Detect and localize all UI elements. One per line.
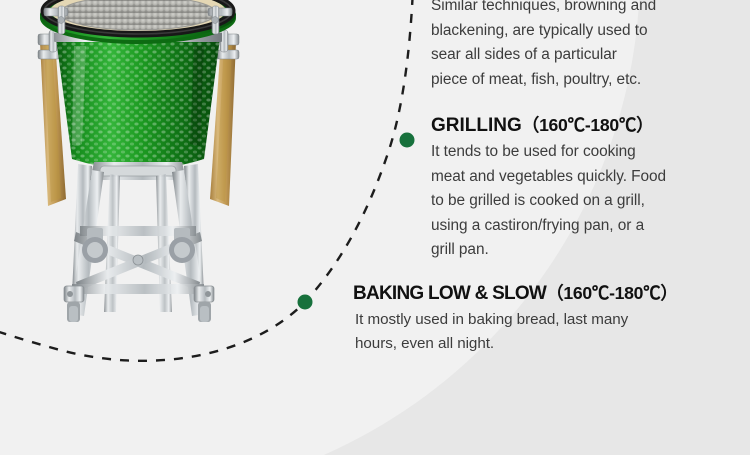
searing-body-line: blackening, are typically used to: [431, 19, 743, 44]
grilling-body-line: It tends to be used for cooking: [431, 140, 743, 165]
arc-line: [0, 0, 414, 361]
searing-body-line: Similar techniques, browning and: [431, 0, 743, 19]
grilling-body-line: meat and vegetables quickly. Food: [431, 165, 743, 190]
section-baking: BAKING LOW & SLOW（160℃-180℃） It mostly u…: [353, 281, 747, 357]
searing-body: Similar techniques, browning and blacken…: [431, 0, 743, 92]
grilling-heading: GRILLING（160℃-180℃）: [431, 113, 743, 138]
searing-body-line: sear all sides of a particular: [431, 43, 743, 68]
node-dot-baking: [298, 295, 313, 310]
baking-body-line: It mostly used in baking bread, last man…: [355, 308, 747, 332]
section-searing: Similar techniques, browning and blacken…: [431, 0, 743, 92]
baking-body: It mostly used in baking bread, last man…: [353, 308, 747, 357]
baking-temperature: （160℃-180℃）: [546, 283, 678, 303]
baking-heading: BAKING LOW & SLOW（160℃-180℃）: [353, 281, 747, 306]
grilling-body-line: to be grilled is cooked on a grill,: [431, 189, 743, 214]
grilling-temperature: （160℃-180℃）: [522, 115, 654, 135]
grilling-heading-label: GRILLING: [431, 115, 522, 136]
text-column: Similar techniques, browning and blacken…: [431, 0, 750, 455]
node-dot-grilling: [400, 133, 415, 148]
infographic-stage: Similar techniques, browning and blacken…: [0, 0, 750, 455]
grilling-body-line: using a castiron/frying pan, or a: [431, 214, 743, 239]
baking-heading-label: BAKING LOW & SLOW: [353, 283, 546, 304]
grilling-body-line: grill pan.: [431, 238, 743, 263]
grilling-body: It tends to be used for cooking meat and…: [431, 140, 743, 263]
baking-body-line: hours, even all night.: [355, 332, 747, 356]
section-grilling: GRILLING（160℃-180℃） It tends to be used …: [431, 113, 743, 263]
searing-body-line: piece of meat, fish, poultry, etc.: [431, 68, 743, 93]
